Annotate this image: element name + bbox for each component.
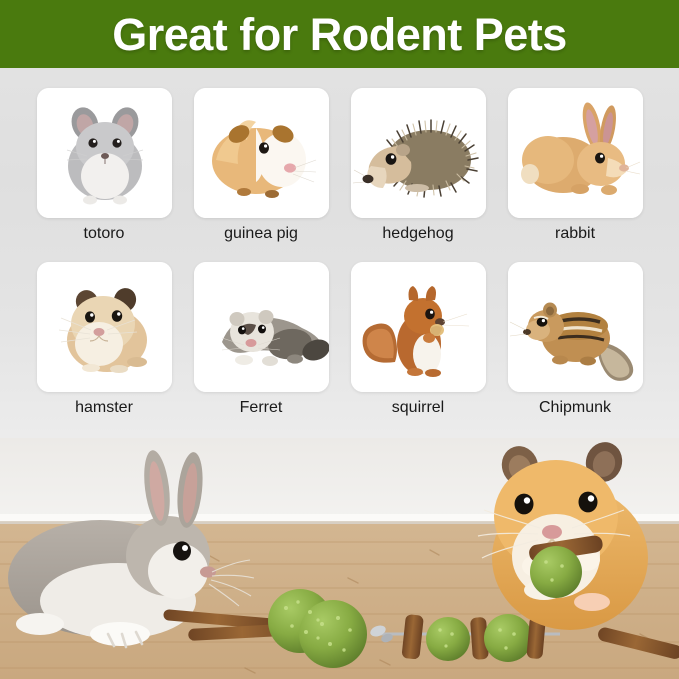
pet-cell-rabbit: rabbit	[508, 88, 643, 262]
grass-ball	[530, 546, 582, 598]
pet-grid-section: totoro	[0, 68, 679, 438]
chinchilla-photo-card	[37, 88, 172, 218]
hamster-photo	[37, 262, 172, 392]
pet-label: hamster	[75, 399, 133, 417]
hedgehog-photo-card	[351, 88, 486, 218]
rabbit-and-hamster-with-chew-toys-photo	[0, 438, 679, 679]
pet-cell-ferret: Ferret	[194, 262, 329, 436]
hamster-photo-card	[37, 262, 172, 392]
rabbit-photo	[508, 88, 643, 218]
squirrel-photo	[351, 262, 486, 392]
ferret-photo-card	[194, 262, 329, 392]
pet-cell-totoro: totoro	[37, 88, 172, 262]
pet-label: Ferret	[240, 399, 283, 417]
pet-label: squirrel	[392, 399, 444, 417]
pet-label: totoro	[84, 225, 125, 243]
page-title: Great for Rodent Pets	[112, 12, 567, 57]
chipmunk-photo-card	[508, 262, 643, 392]
guinea-pig-photo-card	[194, 88, 329, 218]
pet-label: rabbit	[555, 225, 595, 243]
pet-cell-hedgehog: hedgehog	[351, 88, 486, 262]
ferret-photo	[194, 262, 329, 392]
pet-label: hedgehog	[382, 225, 453, 243]
pet-grid-row: totoro	[0, 88, 679, 262]
chinchilla-photo	[37, 88, 172, 218]
pet-cell-chipmunk: Chipmunk	[508, 262, 643, 436]
pet-label: guinea pig	[224, 225, 298, 243]
hedgehog-photo	[351, 88, 486, 218]
pet-cell-guinea-pig: guinea pig	[194, 88, 329, 262]
pet-label: Chipmunk	[539, 399, 611, 417]
pet-grid-row: hamster	[0, 262, 679, 436]
chipmunk-photo	[508, 262, 643, 392]
squirrel-photo-card	[351, 262, 486, 392]
header-banner: Great for Rodent Pets	[0, 0, 679, 68]
rabbit-photo-card	[508, 88, 643, 218]
lifestyle-photo-section	[0, 438, 679, 679]
product-infographic: Great for Rodent Pets	[0, 0, 679, 679]
pet-cell-squirrel: squirrel	[351, 262, 486, 436]
pet-cell-hamster: hamster	[37, 262, 172, 436]
guinea-pig-photo	[194, 88, 329, 218]
